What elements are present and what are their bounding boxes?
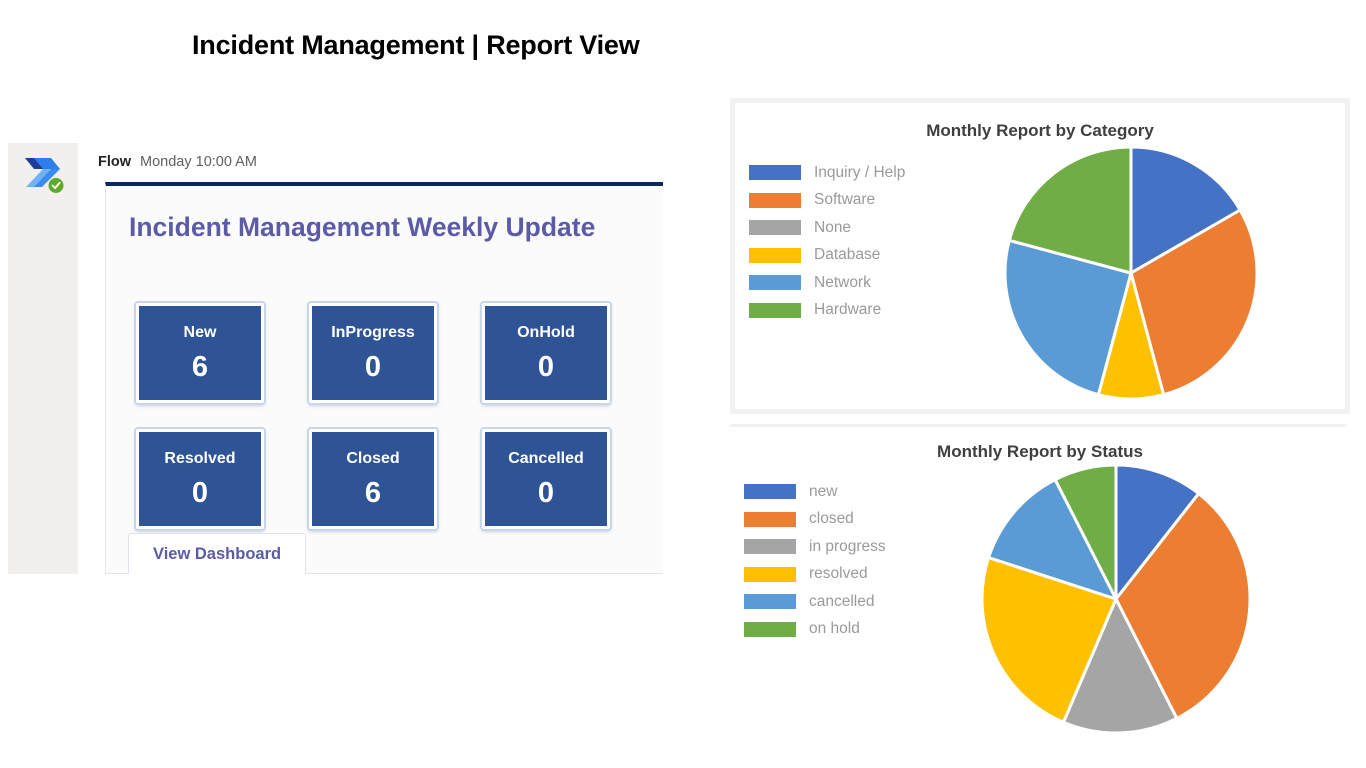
status-tile-value: 0 (538, 479, 554, 508)
legend-swatch-icon (744, 512, 796, 527)
card-actions: View Dashboard (128, 533, 306, 574)
legend-label: closed (809, 510, 854, 528)
chart-panel-category: Monthly Report by Category Inquiry / Hel… (730, 98, 1350, 414)
card-body: FlowMonday 10:00 AM Incident Management … (98, 143, 663, 574)
legend-swatch-icon (749, 303, 801, 318)
status-tile-closed[interactable]: Closed 6 (309, 429, 437, 529)
legend-swatch-icon (749, 248, 801, 263)
legend-label: resolved (809, 565, 868, 583)
legend-item[interactable]: resolved (744, 561, 886, 589)
legend-label: cancelled (809, 593, 875, 611)
legend-label: Network (814, 274, 871, 292)
chart-title: Monthly Report by Status (730, 442, 1350, 462)
avatar-rail (8, 143, 78, 574)
legend-item[interactable]: Hardware (749, 297, 905, 325)
legend-swatch-icon (749, 165, 801, 180)
legend-label: Software (814, 191, 875, 209)
status-tile-label: OnHold (517, 325, 575, 341)
status-tile-value: 0 (365, 353, 381, 382)
legend-item[interactable]: closed (744, 506, 886, 534)
pie-chart-status (980, 463, 1252, 740)
legend-swatch-icon (744, 567, 796, 582)
legend-label: in progress (809, 538, 886, 556)
power-automate-logo-icon (20, 150, 66, 196)
legend-label: None (814, 219, 851, 237)
legend-swatch-icon (749, 220, 801, 235)
status-tile-cancelled[interactable]: Cancelled 0 (482, 429, 610, 529)
flow-message-meta: FlowMonday 10:00 AM (98, 154, 257, 172)
legend-swatch-icon (744, 484, 796, 499)
status-tile-label: Closed (346, 451, 399, 467)
legend-swatch-icon (749, 275, 801, 290)
status-tile-grid: New 6 InProgress 0 OnHold 0 Resolved (136, 303, 641, 555)
chart-legend: Inquiry / HelpSoftwareNoneDatabaseNetwor… (749, 159, 905, 324)
legend-swatch-icon (749, 193, 801, 208)
status-tile-value: 6 (192, 353, 208, 382)
status-tile-value: 6 (365, 479, 381, 508)
legend-item[interactable]: cancelled (744, 588, 886, 616)
status-tile-value: 0 (538, 353, 554, 382)
status-tile-onhold[interactable]: OnHold 0 (482, 303, 610, 403)
chart-title: Monthly Report by Category (735, 121, 1345, 141)
status-tile-label: InProgress (331, 325, 415, 341)
legend-item[interactable]: Database (749, 242, 905, 270)
status-tile-row: Resolved 0 Closed 6 Cancelled 0 (136, 429, 641, 529)
green-check-badge-icon (49, 178, 64, 193)
pie-svg (980, 463, 1252, 735)
legend-item[interactable]: new (744, 478, 886, 506)
legend-label: on hold (809, 620, 860, 638)
legend-item[interactable]: on hold (744, 616, 886, 644)
status-tile-row: New 6 InProgress 0 OnHold 0 (136, 303, 641, 403)
status-tile-new[interactable]: New 6 (136, 303, 264, 403)
legend-item[interactable]: Network (749, 269, 905, 297)
legend-label: Database (814, 246, 880, 264)
chart-legend: newclosedin progressresolvedcancelledon … (744, 478, 886, 643)
status-tile-label: Resolved (164, 451, 235, 467)
card-heading: Incident Management Weekly Update (129, 212, 595, 243)
flow-message-card: FlowMonday 10:00 AM Incident Management … (8, 143, 663, 574)
legend-item[interactable]: Inquiry / Help (749, 159, 905, 187)
panel-divider (730, 424, 1346, 427)
status-tile-inprogress[interactable]: InProgress 0 (309, 303, 437, 403)
status-tile-resolved[interactable]: Resolved 0 (136, 429, 264, 529)
page-title: Incident Management | Report View (192, 30, 640, 61)
legend-swatch-icon (744, 539, 796, 554)
legend-label: Inquiry / Help (814, 164, 905, 182)
chart-panel-status: Monthly Report by Status newclosedin pro… (730, 428, 1350, 758)
flow-app-name: Flow (98, 154, 131, 170)
legend-label: new (809, 483, 837, 501)
flow-timestamp: Monday 10:00 AM (140, 154, 257, 170)
legend-item[interactable]: Software (749, 187, 905, 215)
status-tile-label: New (184, 325, 217, 341)
legend-swatch-icon (744, 594, 796, 609)
pie-svg (1003, 145, 1259, 401)
legend-swatch-icon (744, 622, 796, 637)
adaptive-card: Incident Management Weekly Update New 6 … (105, 182, 663, 574)
legend-label: Hardware (814, 301, 881, 319)
status-tile-label: Cancelled (508, 451, 584, 467)
legend-item[interactable]: None (749, 214, 905, 242)
status-tile-value: 0 (192, 479, 208, 508)
legend-item[interactable]: in progress (744, 533, 886, 561)
pie-chart-category (1003, 145, 1259, 406)
view-dashboard-button[interactable]: View Dashboard (128, 533, 306, 574)
